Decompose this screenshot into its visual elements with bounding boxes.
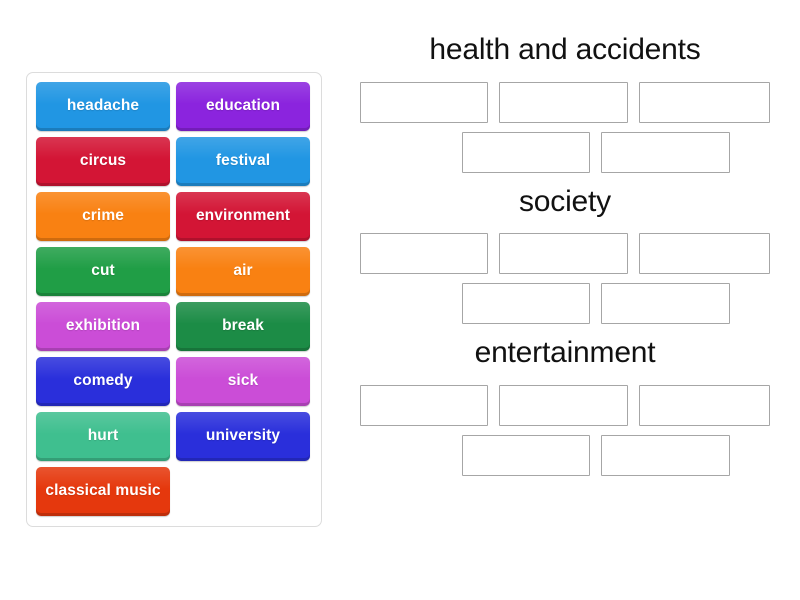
word-tile-label: circus xyxy=(80,153,126,170)
drop-slot[interactable] xyxy=(639,385,770,426)
drop-slot-row xyxy=(340,385,790,426)
word-tile[interactable]: festival xyxy=(176,137,310,186)
drop-slot[interactable] xyxy=(360,233,488,274)
word-tile[interactable]: crime xyxy=(36,192,170,241)
drop-slot[interactable] xyxy=(499,82,628,123)
category-title: entertainment xyxy=(340,333,790,374)
word-tile-label: classical music xyxy=(45,483,160,500)
category-title: society xyxy=(340,182,790,223)
word-tile-label: exhibition xyxy=(66,318,140,335)
drop-slot[interactable] xyxy=(462,283,590,324)
drop-slot[interactable] xyxy=(601,435,730,476)
category-list: health and accidentssocietyentertainment xyxy=(340,30,790,485)
word-tile[interactable]: break xyxy=(176,302,310,351)
word-tile[interactable]: cut xyxy=(36,247,170,296)
drop-slot[interactable] xyxy=(639,82,770,123)
word-tile[interactable]: sick xyxy=(176,357,310,406)
category-group: society xyxy=(340,182,790,325)
drop-slot-row xyxy=(340,435,790,476)
word-tile[interactable]: education xyxy=(176,82,310,131)
word-tile[interactable]: environment xyxy=(176,192,310,241)
word-tile-label: education xyxy=(206,98,280,115)
drop-slot[interactable] xyxy=(462,435,590,476)
word-tile-grid: headacheeducationcircusfestivalcrimeenvi… xyxy=(33,79,315,519)
drop-slot[interactable] xyxy=(462,132,590,173)
word-tile-label: crime xyxy=(82,208,124,225)
drop-slot-row xyxy=(340,132,790,173)
word-tile-label: break xyxy=(222,318,264,335)
word-tile[interactable]: air xyxy=(176,247,310,296)
drop-slot[interactable] xyxy=(360,385,488,426)
drop-slot[interactable] xyxy=(601,132,730,173)
word-tile[interactable]: comedy xyxy=(36,357,170,406)
word-tile-label: university xyxy=(206,428,280,445)
word-tile[interactable]: exhibition xyxy=(36,302,170,351)
word-tile-label: sick xyxy=(228,373,259,390)
drop-slot-row xyxy=(340,233,790,274)
word-tile[interactable]: headache xyxy=(36,82,170,131)
word-bank-panel: headacheeducationcircusfestivalcrimeenvi… xyxy=(26,72,322,527)
drop-slot-row xyxy=(340,82,790,123)
category-title: health and accidents xyxy=(340,30,790,71)
group-sort-activity: headacheeducationcircusfestivalcrimeenvi… xyxy=(0,0,800,600)
drop-slot[interactable] xyxy=(639,233,770,274)
drop-slot[interactable] xyxy=(601,283,730,324)
word-tile[interactable]: university xyxy=(176,412,310,461)
category-group: entertainment xyxy=(340,333,790,476)
word-tile[interactable]: classical music xyxy=(36,467,170,516)
word-tile-label: festival xyxy=(216,153,270,170)
word-tile-label: hurt xyxy=(88,428,119,445)
word-tile-label: environment xyxy=(196,208,290,225)
category-group: health and accidents xyxy=(340,30,790,173)
drop-slot[interactable] xyxy=(360,82,488,123)
word-tile-label: headache xyxy=(67,98,139,115)
drop-slot-row xyxy=(340,283,790,324)
drop-slot[interactable] xyxy=(499,233,628,274)
word-tile-label: comedy xyxy=(73,373,132,390)
word-tile-label: cut xyxy=(91,263,115,280)
drop-slot[interactable] xyxy=(499,385,628,426)
word-tile[interactable]: hurt xyxy=(36,412,170,461)
word-tile[interactable]: circus xyxy=(36,137,170,186)
word-tile-label: air xyxy=(233,263,252,280)
